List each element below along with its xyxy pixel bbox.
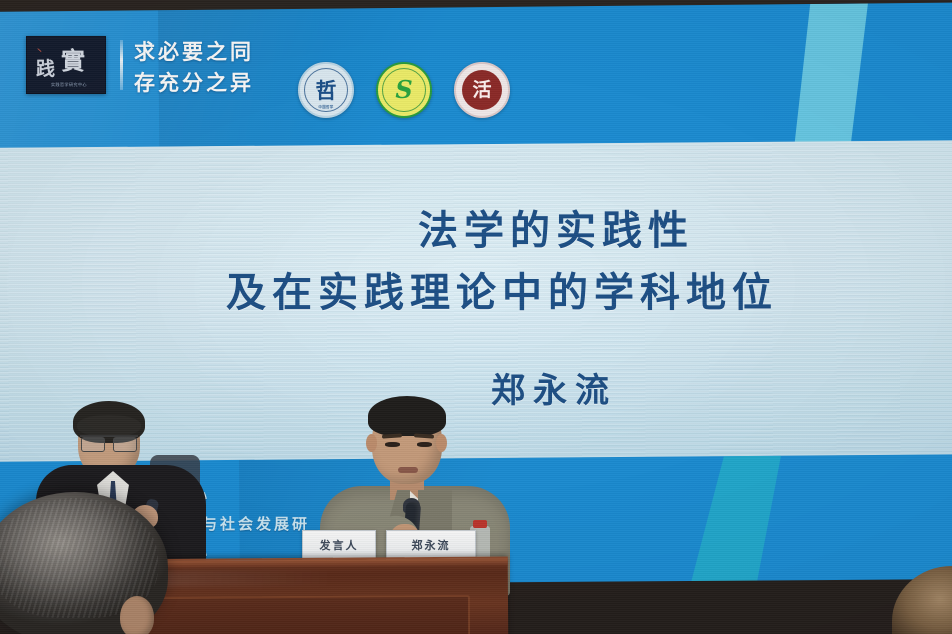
speaker-eye-right (417, 442, 432, 447)
emblem-glyph: 活 (472, 81, 491, 100)
water-bottle-cap (473, 520, 487, 528)
podium-front-panel (122, 595, 470, 634)
placard-role-label: 发言人 (320, 537, 359, 553)
logo-subtext: 实践哲学研究中心 (51, 82, 87, 88)
banner-slogan: 求必要之同 存充分之异 (134, 36, 254, 98)
placard-name: 郑永流 (386, 530, 476, 560)
conference-photo: 丶 實 践 实践哲学研究中心 求必要之同 存充分之异 哲 中国哲学 S 活 生活… (0, 0, 952, 634)
name-placards: 发言人 郑永流 (302, 530, 474, 558)
speaker-hair (368, 396, 446, 436)
speaker-eye-left (385, 442, 400, 447)
huo-seal-emblem: 活 生活书店 (454, 62, 510, 118)
banner-divider (120, 40, 123, 90)
slogan-line-1: 求必要之同 (134, 36, 254, 67)
lower-band-cyan-wedge (689, 456, 782, 587)
banner-cyan-wedge (792, 3, 869, 154)
eyeglasses-icon (80, 435, 138, 450)
speaker-mouth (398, 467, 418, 473)
emblem-row: 哲 中国哲学 S 活 生活书店 (298, 62, 510, 118)
philosophy-institute-emblem: 哲 中国哲学 (298, 62, 354, 118)
audience-ear-left (120, 596, 154, 634)
logo-accent-mark: 丶 (35, 44, 44, 57)
society-s-emblem: S (376, 62, 432, 118)
shijian-seal-logo: 丶 實 践 实践哲学研究中心 (26, 36, 106, 94)
placard-role: 发言人 (302, 530, 376, 560)
speaker-ear-right (436, 434, 447, 452)
emblem-microtext: 中国哲学 (300, 105, 352, 110)
speaker-ear-left (366, 434, 377, 452)
emblem-microtext: 生活书店 (456, 105, 508, 110)
placard-name-label: 郑永流 (412, 537, 451, 553)
logo-glyph-secondary: 實 (61, 49, 84, 73)
slogan-line-2: 存充分之异 (134, 67, 254, 98)
emblem-glyph: 哲 (316, 80, 337, 101)
logo-glyph-primary: 践 (36, 60, 54, 79)
emblem-glyph: S (395, 78, 412, 102)
